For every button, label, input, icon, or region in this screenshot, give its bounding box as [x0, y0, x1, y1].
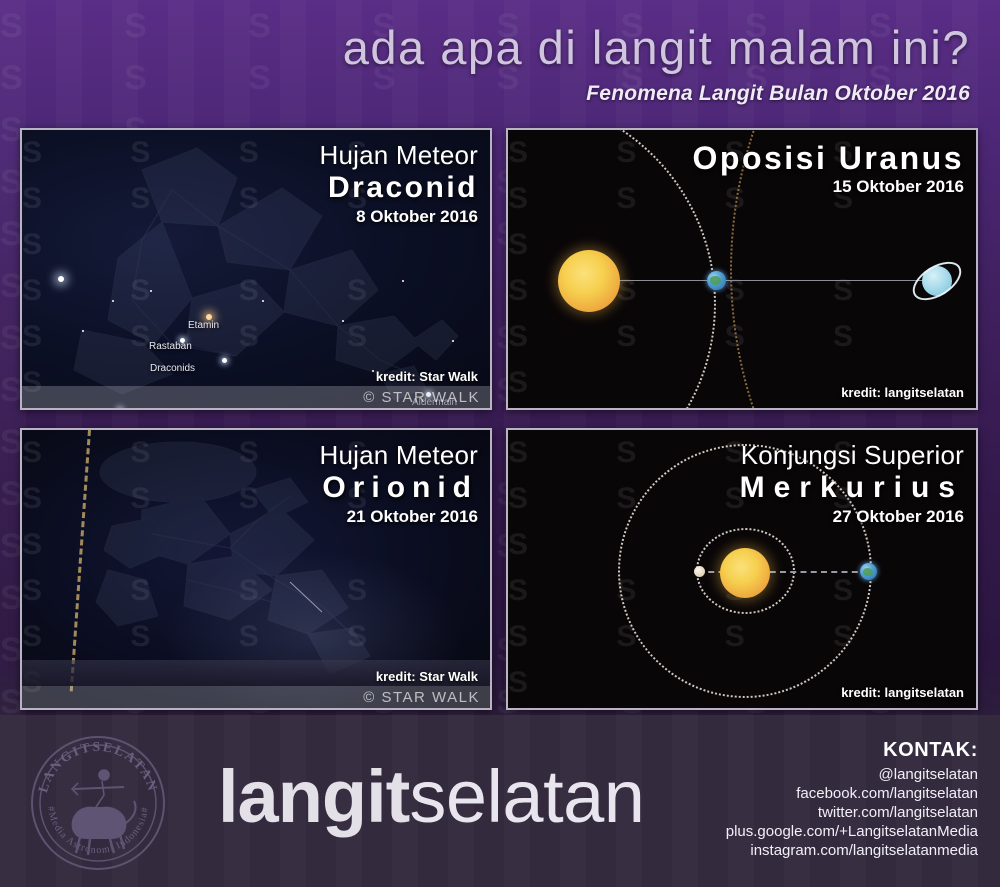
panel-date: 27 Oktober 2016 — [740, 506, 964, 528]
panel-kicker: Hujan Meteor — [320, 440, 478, 470]
panel-draconid[interactable]: S S S S S S S S S S S S S S S S S S S S … — [20, 128, 492, 410]
opposition-alignment-line — [600, 280, 940, 281]
contact-block: KONTAK: @langitselatan facebook.com/lang… — [726, 739, 978, 860]
panel-credit: kredit: langitselatan — [841, 385, 964, 400]
panel-orionid[interactable]: S S S S S S S S S S S S S S S S S S S S … — [20, 428, 492, 710]
page-title: ada apa di langit malam ini? — [343, 22, 970, 74]
panel-kicker: Konjungsi Superior — [740, 440, 964, 470]
uranus-group — [914, 258, 960, 304]
star — [58, 276, 64, 282]
panel-heading: Oposisi Uranus 15 Oktober 2016 — [693, 140, 965, 198]
panel-credit: kredit: Star Walk — [376, 669, 478, 684]
panel-credit: kredit: langitselatan — [841, 685, 964, 700]
starwalk-watermark: © STAR WALK — [22, 386, 490, 408]
panel-heading: Konjungsi Superior Merkurius 27 Oktober … — [740, 440, 964, 528]
panel-title: Merkurius — [740, 470, 964, 506]
contact-instagram[interactable]: instagram.com/langitselatanmedia — [726, 841, 978, 860]
star — [342, 320, 344, 322]
contact-googleplus[interactable]: plus.google.com/+LangitselatanMedia — [726, 822, 978, 841]
contact-facebook[interactable]: facebook.com/langitselatan — [726, 784, 978, 803]
sun-body — [720, 548, 770, 598]
contact-twitter[interactable]: twitter.com/langitselatan — [726, 803, 978, 822]
sun-body — [558, 250, 620, 312]
contact-title: KONTAK: — [726, 739, 978, 762]
panel-merkurius[interactable]: S S S S S S S S S S S S S S S S S S S S … — [506, 428, 978, 710]
panel-kicker: Hujan Meteor — [320, 140, 478, 170]
contact-handle[interactable]: @langitselatan — [726, 765, 978, 784]
earth-body — [860, 563, 877, 580]
wordmark-thin: selatan — [409, 755, 644, 838]
langitselatan-logo[interactable]: LANGITSELATAN #Media Astronomi Indonesia… — [28, 733, 168, 873]
star — [150, 290, 152, 292]
panel-title: Oposisi Uranus — [693, 140, 965, 176]
wordmark-bold: langit — [218, 755, 409, 838]
uranus-ring — [906, 254, 968, 308]
star — [118, 408, 122, 410]
panel-date: 15 Oktober 2016 — [693, 176, 965, 198]
poster-root: { "header": { "title": "ada apa di langi… — [0, 0, 1000, 887]
label-star: Etamin — [188, 320, 219, 331]
page-subtitle: Fenomena Langit Bulan Oktober 2016 — [586, 82, 970, 106]
star — [262, 300, 264, 302]
star — [82, 330, 84, 332]
panel-heading: Hujan Meteor Draconid 8 Oktober 2016 — [320, 140, 478, 228]
star — [452, 340, 454, 342]
panel-title: Orionid — [320, 470, 478, 506]
starwalk-watermark: © STAR WALK — [22, 686, 490, 708]
mercury-body — [694, 566, 705, 577]
star — [372, 370, 374, 372]
label-radiant: Draconids — [150, 363, 195, 374]
langitselatan-wordmark: langitselatan — [218, 757, 644, 837]
star — [222, 358, 227, 363]
poster-header: ada apa di langit malam ini? Fenomena La… — [0, 0, 1000, 120]
panel-uranus[interactable]: S S S S S S S S S S S S S S S S S S S S … — [506, 128, 978, 410]
earth-body — [707, 271, 726, 290]
poster-footer: LANGITSELATAN #Media Astronomi Indonesia… — [0, 715, 1000, 887]
panel-heading: Hujan Meteor Orionid 21 Oktober 2016 — [320, 440, 478, 528]
label-star: Rastaban — [149, 341, 192, 352]
panel-date: 21 Oktober 2016 — [320, 506, 478, 528]
panel-credit: kredit: Star Walk — [376, 369, 478, 384]
panel-title: Draconid — [320, 170, 478, 206]
panel-date: 8 Oktober 2016 — [320, 206, 478, 228]
star — [402, 280, 404, 282]
star — [112, 300, 114, 302]
